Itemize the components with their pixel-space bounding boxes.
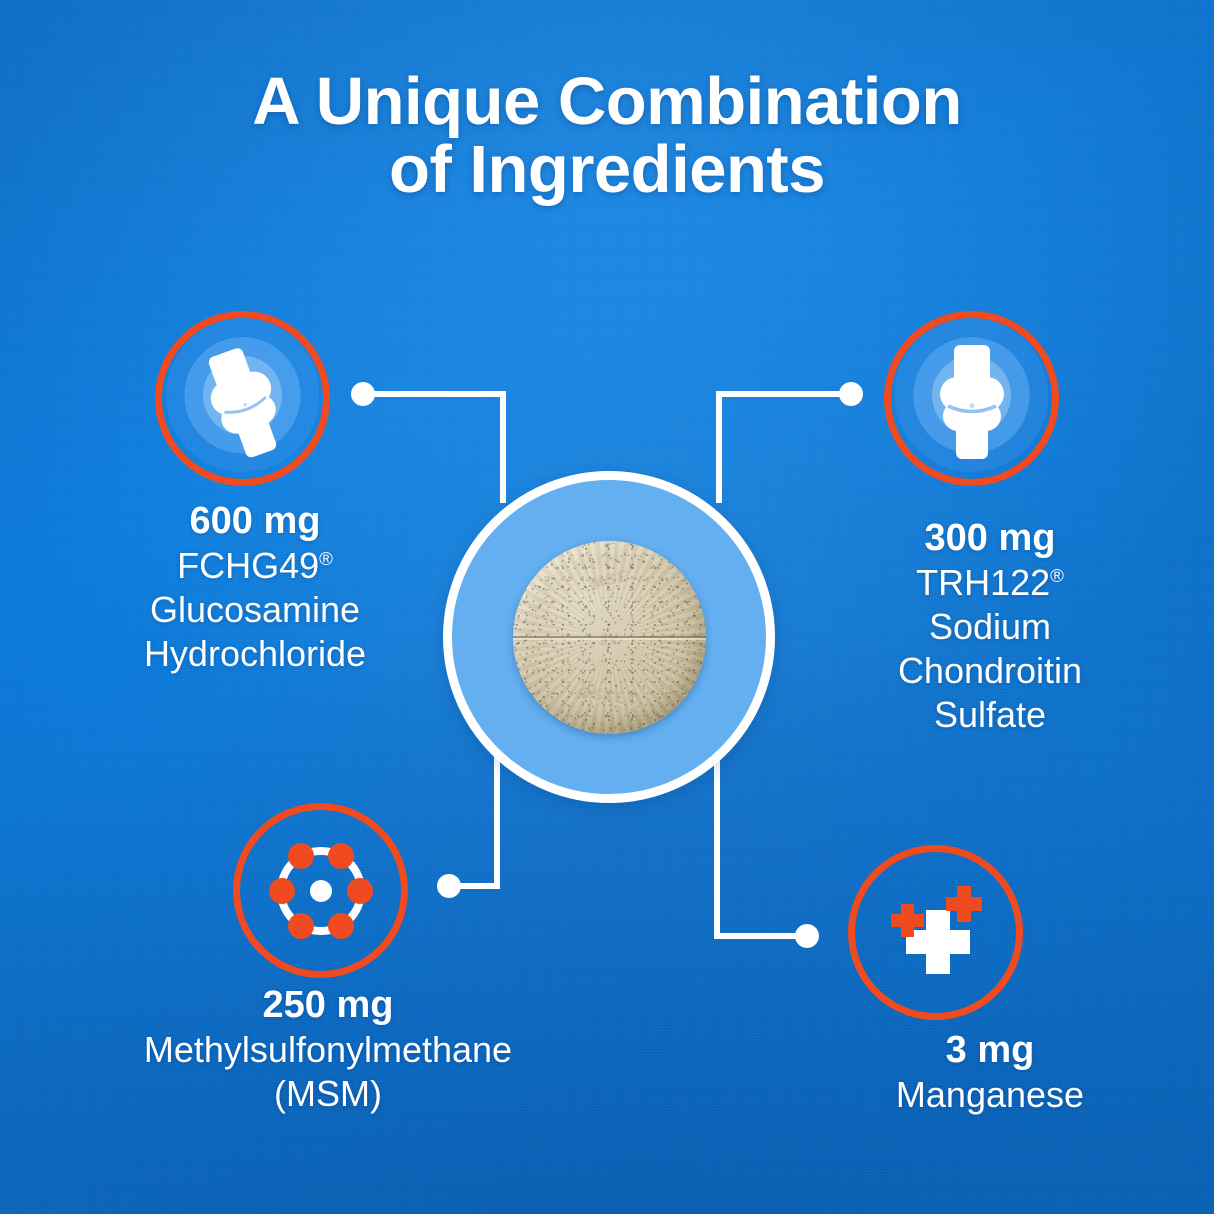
connector-dot-manganese bbox=[795, 924, 819, 948]
label-chondroitin: 300 mg TRH122® Sodium Chondroitin Sulfat… bbox=[770, 515, 1210, 737]
name-chondroitin-line-2: Sodium bbox=[770, 605, 1210, 649]
knee-joint-angled-icon bbox=[183, 339, 303, 459]
badge-manganese bbox=[848, 845, 1023, 1020]
label-msm: 250 mg Methylsulfonylmethane (MSM) bbox=[30, 982, 626, 1116]
dose-manganese: 3 mg bbox=[770, 1027, 1210, 1073]
tablet-emboss-line-1: MSE bbox=[590, 569, 631, 592]
badge-msm bbox=[233, 803, 408, 978]
name-glucosamine-line-2: Glucosamine bbox=[30, 588, 480, 632]
infographic-canvas: A Unique Combination of Ingredients MSE … bbox=[0, 0, 1214, 1214]
supplement-tablet: MSE JV OSTEO bbox=[513, 541, 706, 734]
badge-glucosamine bbox=[155, 311, 330, 486]
brand-trh122: TRH122 bbox=[916, 562, 1050, 603]
connector-dot-chondroitin bbox=[839, 382, 863, 406]
title-line-1: A Unique Combination bbox=[252, 64, 962, 139]
badge-chondroitin bbox=[884, 311, 1059, 486]
name-glucosamine-line-3: Hydrochloride bbox=[30, 632, 480, 676]
label-manganese: 3 mg Manganese bbox=[770, 1027, 1210, 1117]
name-msm-line-2: (MSM) bbox=[30, 1072, 626, 1116]
dose-glucosamine: 600 mg bbox=[30, 498, 480, 544]
label-glucosamine: 600 mg FCHG49® Glucosamine Hydrochloride bbox=[30, 498, 480, 676]
title-line-2: of Ingredients bbox=[0, 136, 1214, 204]
connector-manganese bbox=[717, 760, 800, 936]
connector-chondroitin bbox=[719, 394, 844, 500]
tablet-medallion: MSE JV OSTEO bbox=[443, 471, 775, 803]
name-msm-line-1: Methylsulfonylmethane bbox=[30, 1028, 626, 1072]
name-chondroitin-line-3: Chondroitin bbox=[770, 649, 1210, 693]
dose-msm: 250 mg bbox=[30, 982, 626, 1028]
connector-dot-msm bbox=[437, 874, 461, 898]
tablet-emboss-line-2: JV bbox=[598, 632, 622, 649]
name-manganese-line-1: Manganese bbox=[770, 1073, 1210, 1117]
registered-mark-fchg49: ® bbox=[319, 548, 333, 569]
brand-fchg49: FCHG49 bbox=[177, 545, 319, 586]
dose-chondroitin: 300 mg bbox=[770, 515, 1210, 561]
tablet-embossed-text: MSE JV OSTEO bbox=[513, 541, 706, 734]
name-glucosamine-line-1: FCHG49® bbox=[30, 544, 480, 588]
name-chondroitin-line-1: TRH122® bbox=[770, 561, 1210, 605]
registered-mark-trh122: ® bbox=[1050, 565, 1064, 586]
molecule-icon bbox=[256, 826, 386, 956]
knee-joint-straight-icon bbox=[912, 339, 1032, 459]
page-title: A Unique Combination of Ingredients bbox=[0, 68, 1214, 205]
tablet-emboss-line-3: OSTEO bbox=[578, 686, 642, 709]
name-chondroitin-line-4: Sulfate bbox=[770, 693, 1210, 737]
connector-glucosamine bbox=[370, 394, 503, 500]
connector-dot-glucosamine bbox=[351, 382, 375, 406]
medical-cross-icon bbox=[871, 868, 1001, 998]
connector-msm bbox=[455, 760, 497, 886]
